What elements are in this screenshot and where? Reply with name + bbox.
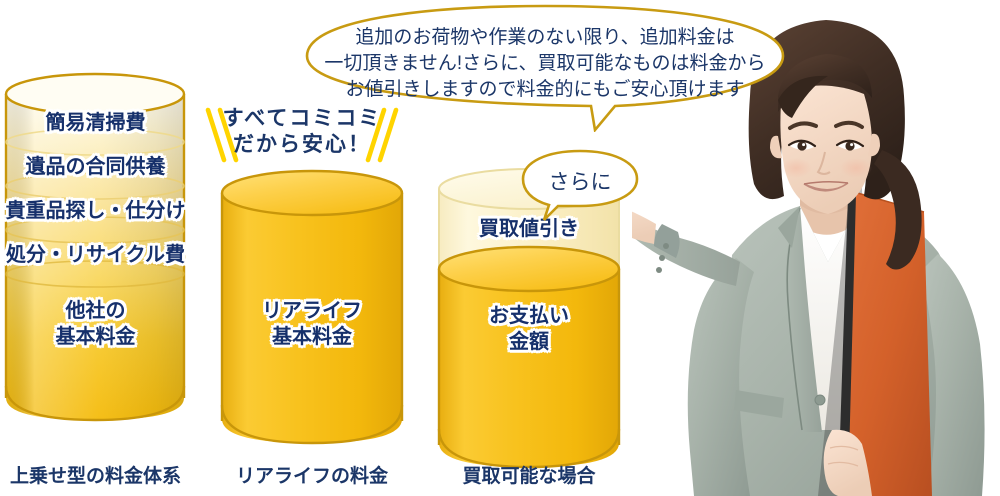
main-bubble-line-3: お値引きしますので料金的にもご安心頂けます	[295, 74, 795, 101]
caption-realife: リアライフの料金	[214, 461, 410, 488]
cylinder-realife-label-line1: リアライフ	[214, 300, 410, 322]
main-bubble-line-1: 追加のお荷物や作業のない限り、追加料金は	[295, 22, 795, 49]
segment-label-valuables-sorting: 貴重品探し・仕分け	[0, 200, 193, 222]
komikomi-line-2: だから安心！	[202, 132, 402, 158]
sarani-bubble-label: さらに	[518, 166, 642, 196]
segment-label-disposal-recycle: 処分・リサイクル費	[0, 244, 193, 266]
caption-buyback: 買取可能な場合	[430, 461, 628, 488]
caption-other-company: 上乗せ型の料金体系	[0, 461, 193, 488]
segment-label-cleaning: 簡易清掃費	[0, 112, 193, 134]
main-bubble-line-2: 一切頂きません!さらに、買取可能なものは料金から	[295, 48, 795, 75]
cylinder-buyback-label-line1: お支払い	[430, 305, 628, 327]
infographic-canvas: 追加のお荷物や作業のない限り、追加料金は 一切頂きません!さらに、買取可能なもの…	[0, 0, 1000, 496]
segment-label-memorial: 遺品の合同供養	[0, 156, 193, 178]
cylinder-other-base-label-line2: 基本料金	[0, 326, 193, 348]
cylinder-realife-label-line2: 基本料金	[214, 326, 410, 348]
cylinder-other-base-label-line1: 他社の	[0, 300, 193, 322]
komikomi-line-1: すべてコミコミ	[202, 106, 402, 132]
cylinder-buyback-label-line2: 金額	[430, 331, 628, 353]
